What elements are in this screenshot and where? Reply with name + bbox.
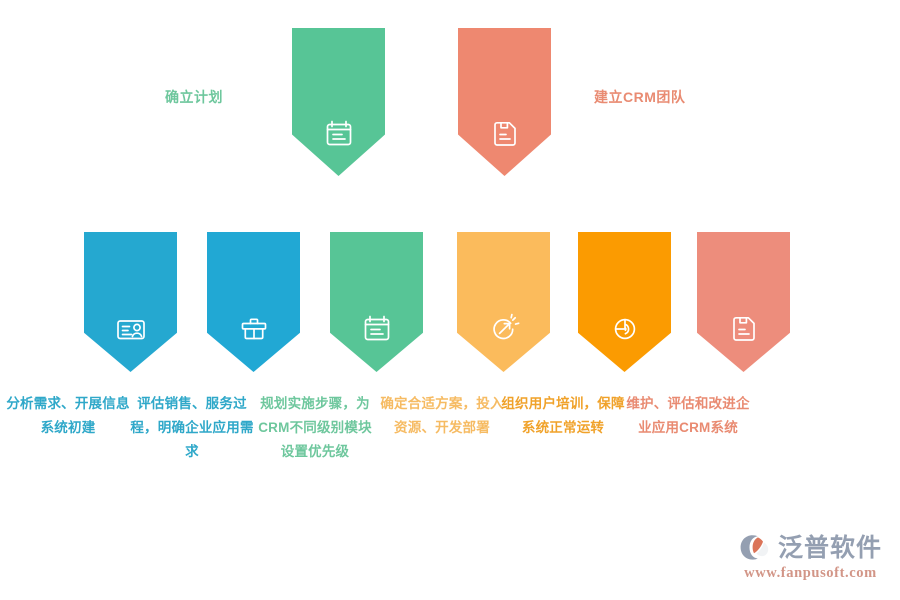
watermark-url: www.fanpusoft.com bbox=[744, 565, 877, 582]
watermark-name: 泛普软件 bbox=[778, 536, 882, 561]
top-label-plan: 确立计划 bbox=[165, 87, 223, 107]
save-document-icon bbox=[726, 311, 762, 347]
caption-sales-service: 评估销售、服务过程，明确企业应用需求 bbox=[130, 392, 254, 464]
top-label-crm-team: 建立CRM团队 bbox=[594, 87, 685, 107]
radar-signal-icon bbox=[607, 311, 643, 347]
banner-implementation-plan[interactable] bbox=[330, 232, 423, 372]
target-arrow-icon bbox=[486, 311, 522, 347]
banner-maintain-improve[interactable] bbox=[697, 232, 790, 372]
infographic-canvas: 确立计划 建立CRM团队 分析需求、开展信息系统初建 bbox=[0, 0, 900, 600]
watermark-logo-row: 泛普软件 bbox=[739, 533, 882, 563]
banner-user-training[interactable] bbox=[578, 232, 671, 372]
caption-user-training: 组织用户培训，保障系统正常运转 bbox=[501, 392, 625, 440]
banner-crm-team[interactable] bbox=[458, 28, 551, 176]
caption-maintain-improve: 维护、评估和改进企业应用CRM系统 bbox=[626, 392, 750, 440]
contact-card-icon bbox=[113, 311, 149, 347]
caption-solution-deploy: 确定合适方案，投入资源、开发部署 bbox=[380, 392, 504, 440]
fanpu-logo-icon bbox=[739, 533, 773, 563]
caption-implementation-plan: 规划实施步骤，为CRM不同级别模块设置优先级 bbox=[253, 392, 377, 464]
clipboard-lines-icon bbox=[359, 311, 395, 347]
caption-requirements: 分析需求、开展信息系统初建 bbox=[6, 392, 130, 440]
banner-requirements[interactable] bbox=[84, 232, 177, 372]
banner-plan[interactable] bbox=[292, 28, 385, 176]
save-document-icon bbox=[487, 116, 523, 152]
toolbox-icon bbox=[236, 311, 272, 347]
watermark: 泛普软件 www.fanpusoft.com bbox=[739, 533, 882, 582]
note-board-icon bbox=[321, 116, 357, 152]
banner-sales-service[interactable] bbox=[207, 232, 300, 372]
banner-solution-deploy[interactable] bbox=[457, 232, 550, 372]
